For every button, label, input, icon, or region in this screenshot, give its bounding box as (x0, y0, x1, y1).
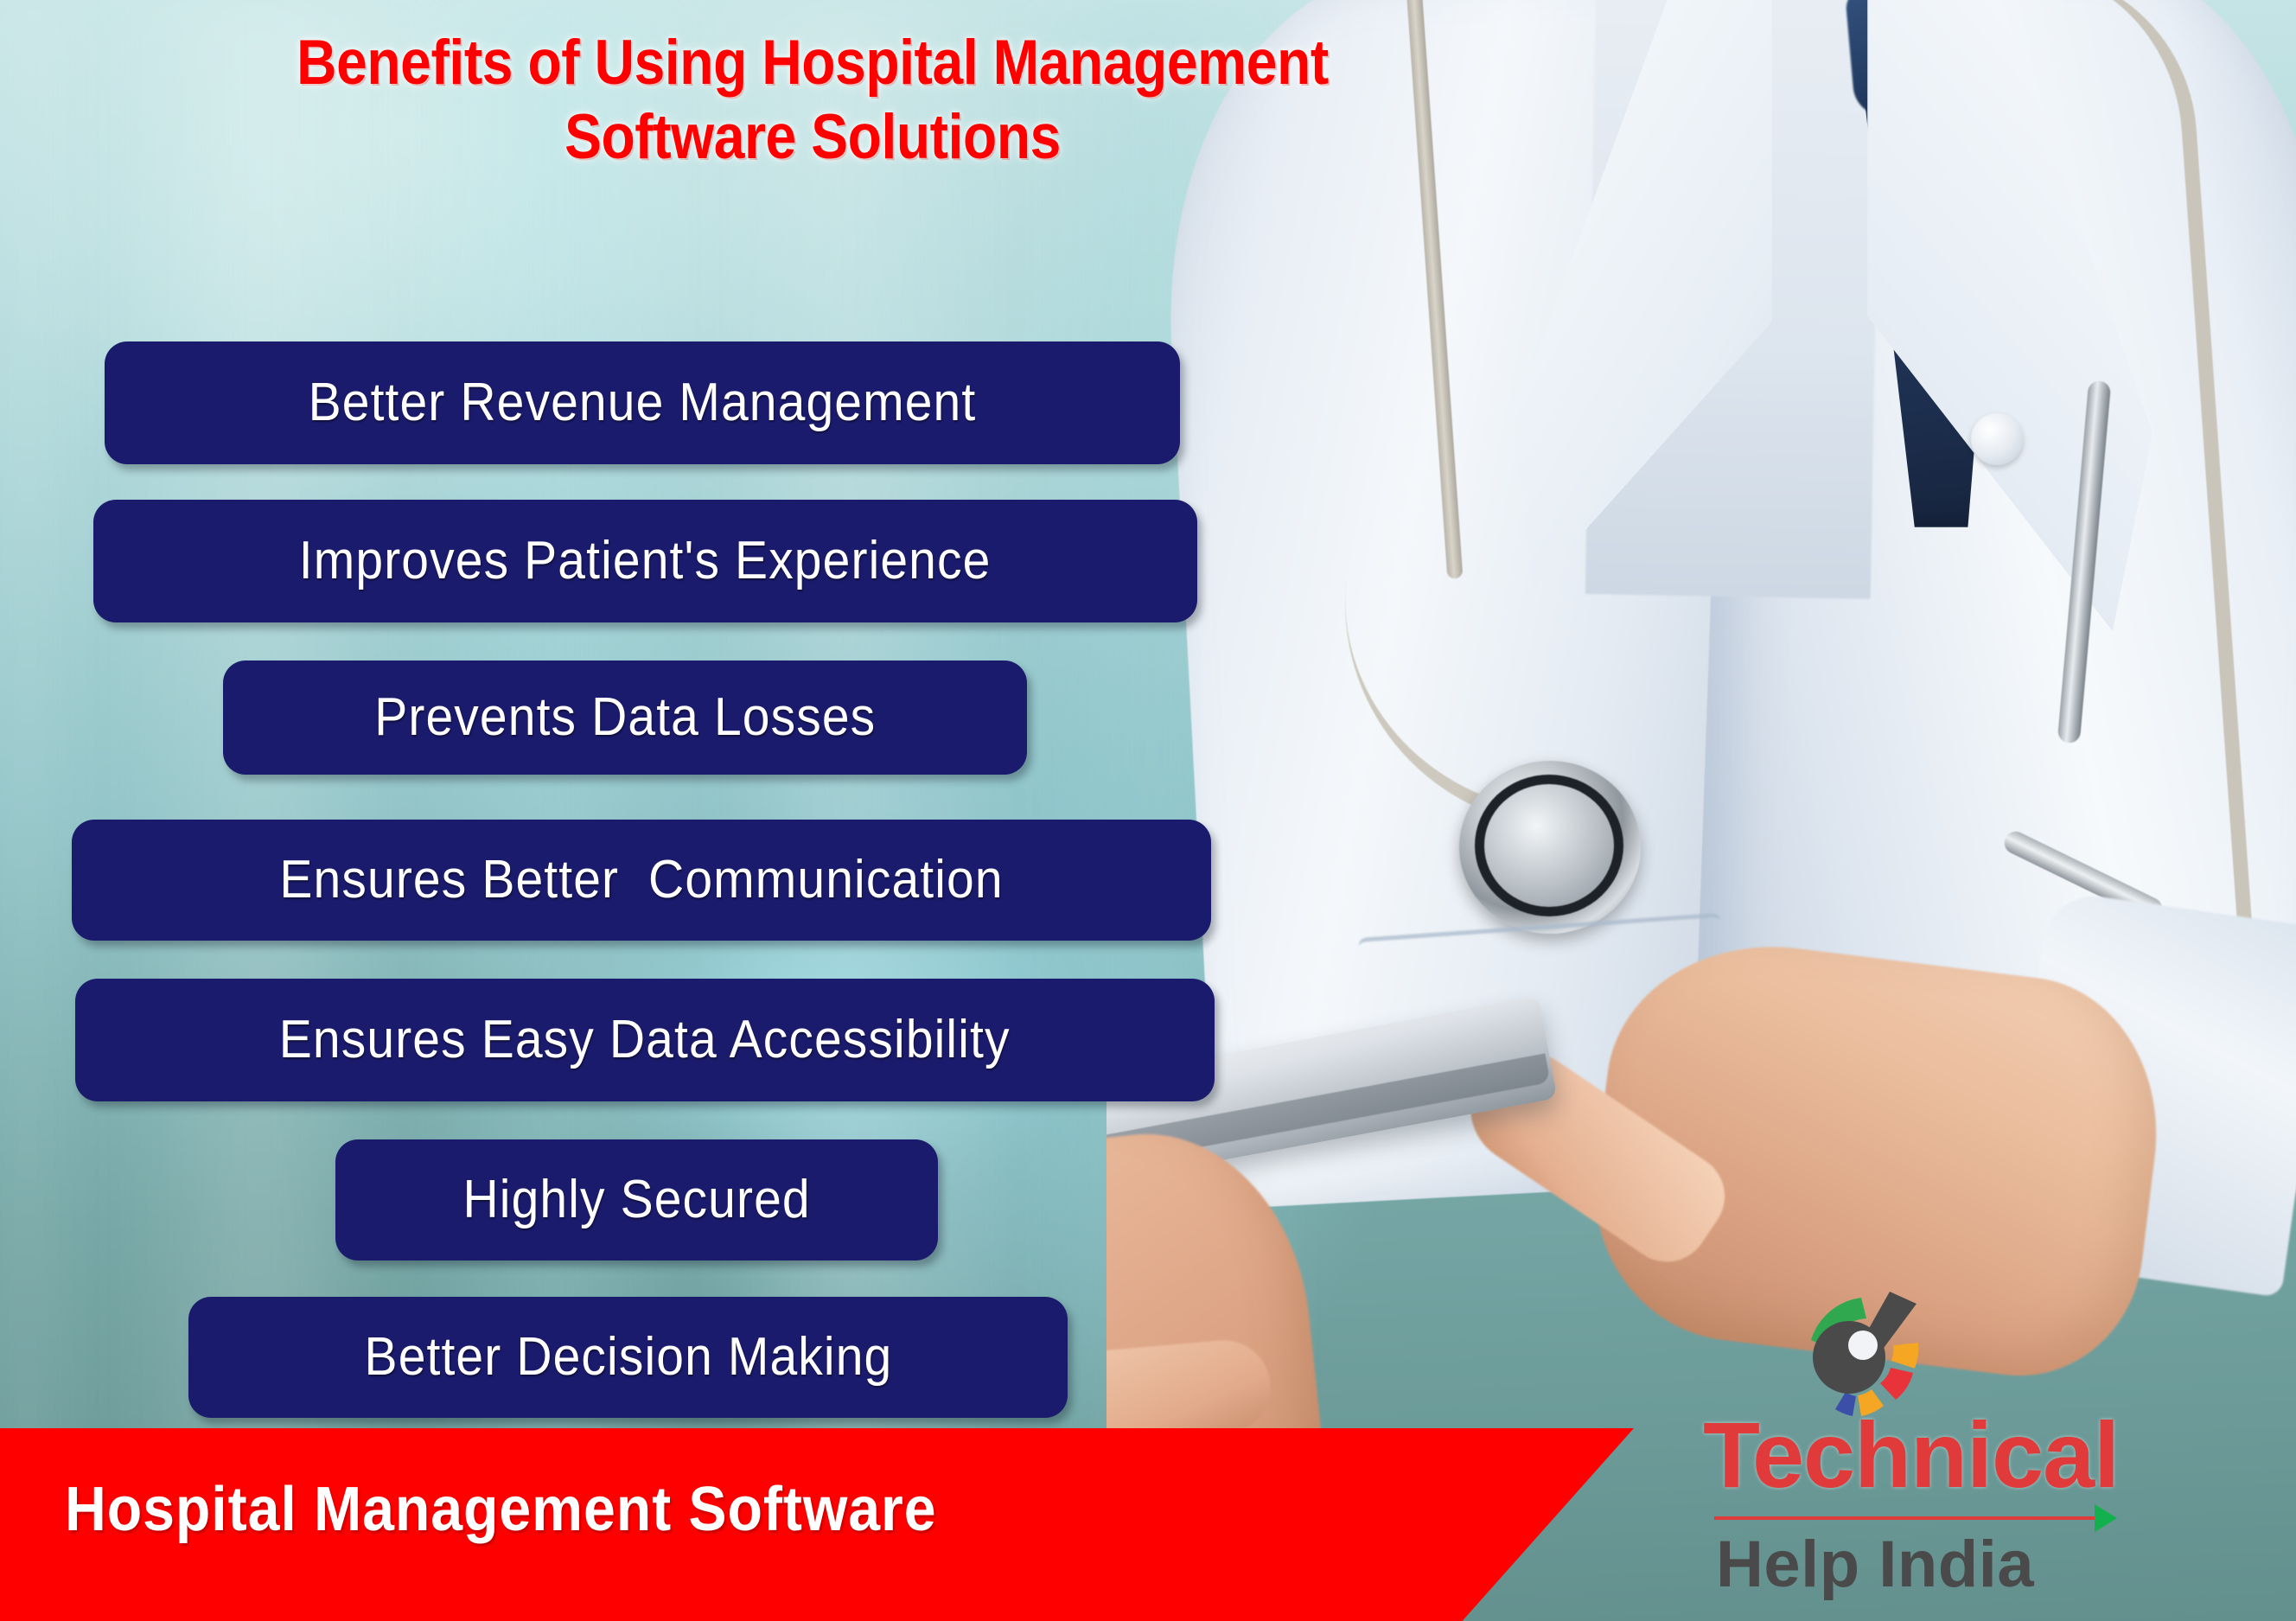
benefit-pill-better-revenue-management[interactable]: Better Revenue Management (105, 341, 1180, 464)
benefit-label: Highly Secured (462, 1173, 810, 1227)
benefit-label: Better Revenue Management (309, 376, 977, 430)
logo-arrow-icon (2095, 1504, 2117, 1532)
stethoscope-chestpiece-icon (1459, 761, 1641, 934)
coat-button-upper (1971, 413, 2023, 465)
page-title: Benefits of Using Hospital Management So… (188, 26, 1436, 175)
logo-subtitle: Help India (1716, 1527, 2034, 1602)
page-title-line-1: Benefits of Using Hospital Management (188, 26, 1436, 100)
benefit-pill-better-decision-making[interactable]: Better Decision Making (188, 1297, 1068, 1418)
logo-wordmark: Technical (1703, 1401, 2119, 1509)
logo-divider-line (1714, 1516, 2095, 1520)
benefit-pill-highly-secured[interactable]: Highly Secured (335, 1139, 938, 1260)
benefit-pill-ensures-better-communication[interactable]: Ensures Better Communication (72, 820, 1211, 941)
benefit-pill-prevents-data-losses[interactable]: Prevents Data Losses (223, 661, 1027, 775)
infographic-poster: Benefits of Using Hospital Management So… (0, 0, 2296, 1621)
benefit-pill-improves-patients-experience[interactable]: Improves Patient's Experience (93, 500, 1197, 622)
benefit-label: Ensures Better Communication (279, 853, 1003, 907)
footer-banner-text: Hospital Management Software (65, 1474, 936, 1545)
page-title-line-2: Software Solutions (188, 100, 1436, 175)
brand-logo[interactable]: Technical Help India (1690, 1278, 2261, 1620)
benefit-label: Prevents Data Losses (374, 691, 876, 744)
benefit-pill-ensures-easy-data-accessibility[interactable]: Ensures Easy Data Accessibility (75, 979, 1215, 1101)
benefit-label: Improves Patient's Experience (299, 534, 992, 588)
benefit-label: Ensures Easy Data Accessibility (279, 1013, 1011, 1067)
benefit-label: Better Decision Making (364, 1331, 892, 1384)
